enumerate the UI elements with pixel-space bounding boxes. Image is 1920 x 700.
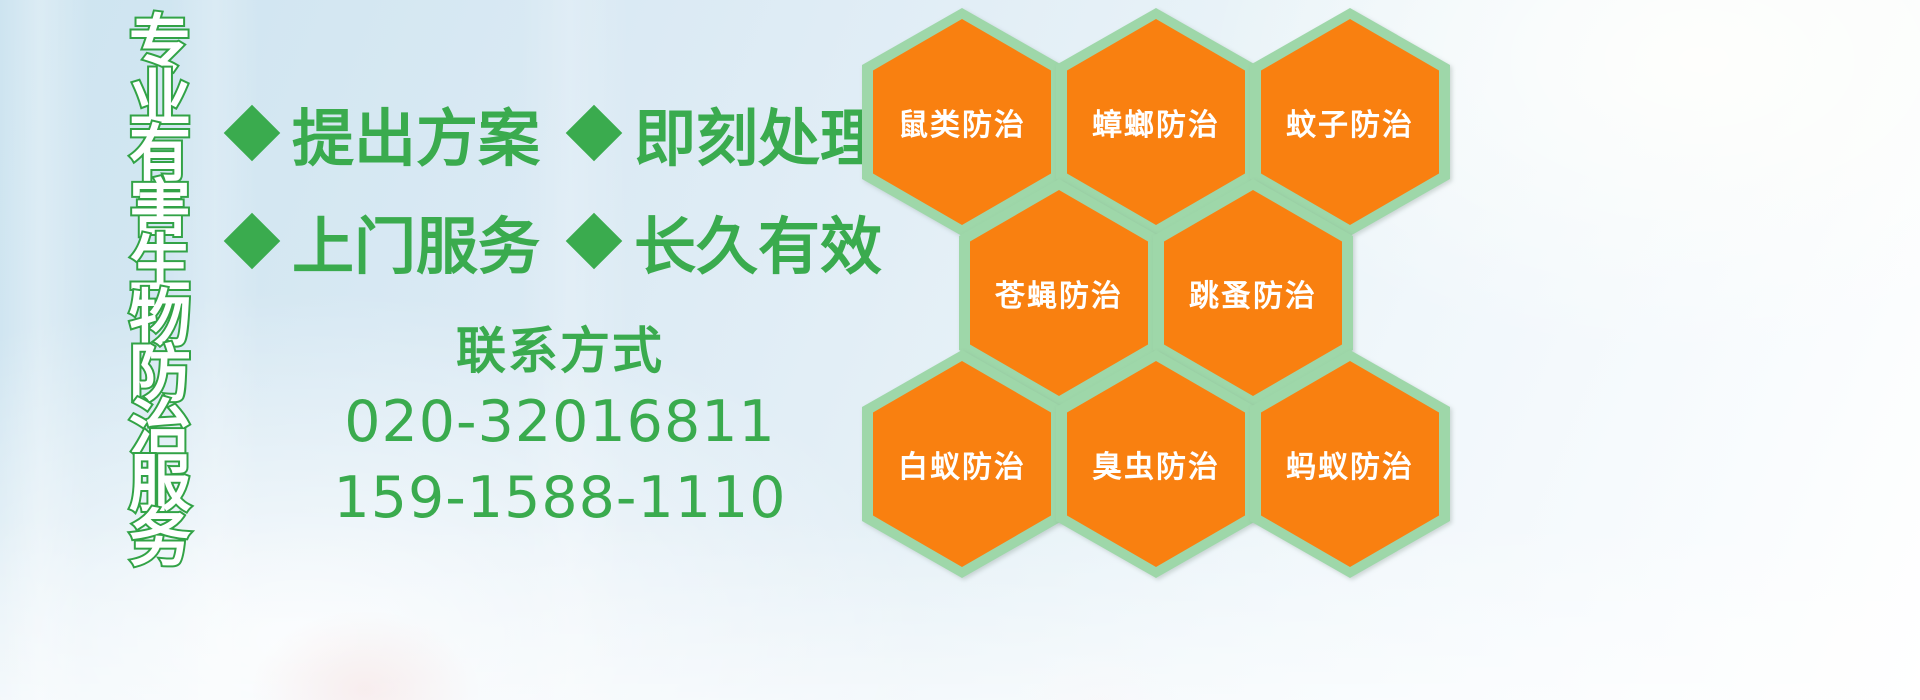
feature-label: 上门服务	[292, 196, 540, 286]
service-hexagon[interactable]: 臭虫防治	[1056, 350, 1256, 578]
service-hexagon-label: 蚊子防治	[1286, 100, 1414, 144]
feature-row-2: 上门服务 长久有效	[232, 196, 882, 286]
service-hexagon-label: 苍蝇防治	[995, 271, 1123, 315]
service-hexagon-label: 跳蚤防治	[1189, 271, 1317, 315]
feature-row-1: 提出方案 即刻处理	[232, 88, 882, 178]
service-hexagon-label: 鼠类防治	[898, 100, 1026, 144]
contact-block: 联系方式 020-32016811 159-1588-1110	[300, 318, 820, 536]
service-hexagon-label: 蟑螂防治	[1092, 100, 1220, 144]
diamond-icon	[224, 105, 281, 162]
contact-phone-landline[interactable]: 020-32016811	[300, 384, 820, 460]
service-hexagon[interactable]: 白蚁防治	[862, 350, 1062, 578]
feature-label: 提出方案	[292, 88, 540, 178]
contact-title: 联系方式	[300, 318, 820, 384]
service-hexagon[interactable]: 蚂蚁防治	[1250, 350, 1450, 578]
background-blob-left	[250, 610, 480, 700]
service-hexagon-label: 白蚁防治	[898, 442, 1026, 486]
vertical-slogan: 专 业 有 害 生 物 防 治 服 务	[112, 16, 208, 576]
feature-label: 长久有效	[634, 196, 882, 286]
service-hexagon-label: 臭虫防治	[1092, 442, 1220, 486]
service-hexagon-label: 蚂蚁防治	[1286, 442, 1414, 486]
diamond-icon	[566, 213, 623, 270]
contact-phone-mobile[interactable]: 159-1588-1110	[300, 460, 820, 536]
pest-control-banner: 专 业 有 害 生 物 防 治 服 务 提出方案 即刻处理 上门服务 长久有效 …	[0, 0, 1920, 700]
vertical-slogan-char: 务	[129, 511, 191, 566]
feature-label: 即刻处理	[634, 88, 882, 178]
diamond-icon	[566, 105, 623, 162]
diamond-icon	[224, 213, 281, 270]
service-hexagon-grid: 鼠类防治 蟑螂防治 蚊子防治 苍蝇防治 跳蚤防治 白蚁防治	[862, 0, 1462, 700]
